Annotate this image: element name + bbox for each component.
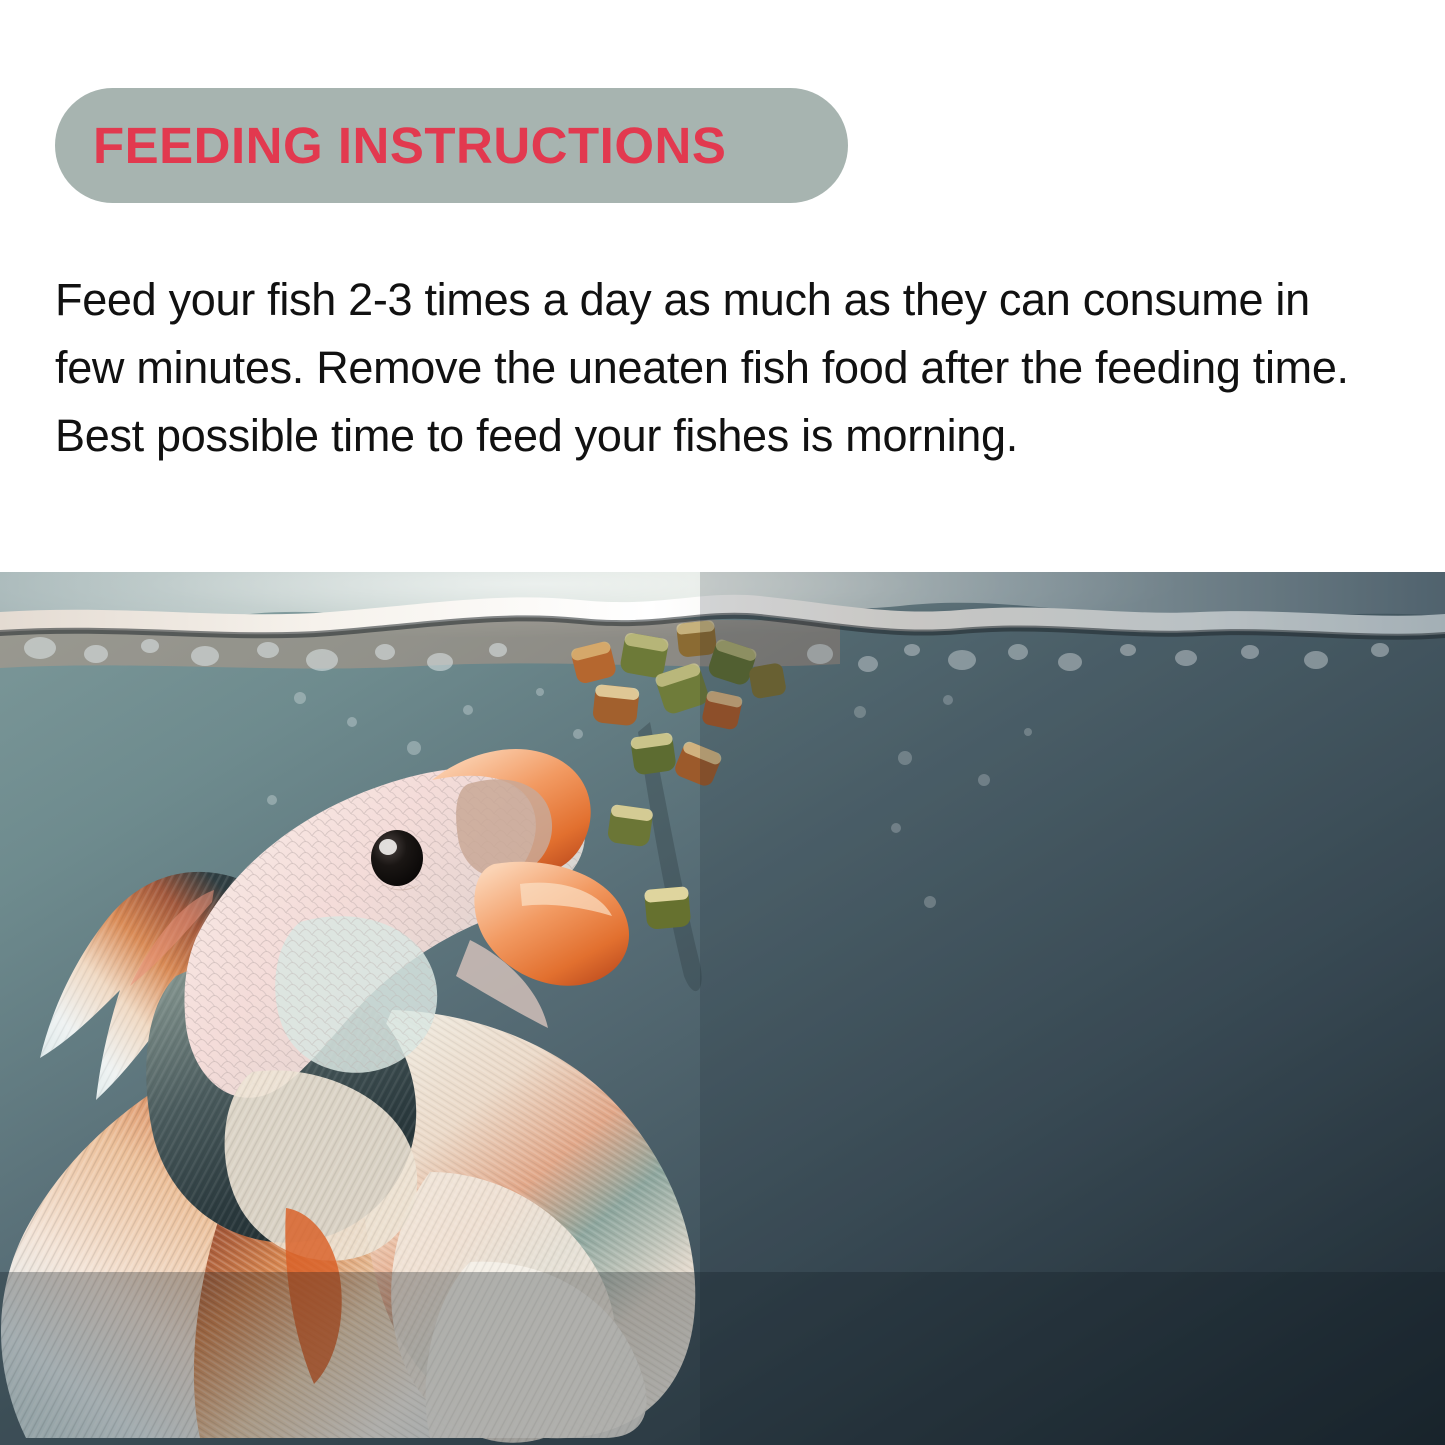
header-section: FEEDING INSTRUCTIONS Feed your fish 2-3 … (0, 0, 1445, 572)
feeding-instructions-text: Feed your fish 2-3 times a day as much a… (55, 266, 1390, 470)
product-info-card: FEEDING INSTRUCTIONS Feed your fish 2-3 … (0, 0, 1445, 1445)
fish-eye (371, 830, 423, 886)
fish-eye-highlight (379, 839, 397, 855)
page-title: FEEDING INSTRUCTIONS (93, 120, 726, 171)
bottom-vignette (0, 1272, 1445, 1445)
betta-fish-photo (0, 572, 1445, 1445)
underwater-scene-illustration (0, 572, 1445, 1445)
section-title-badge: FEEDING INSTRUCTIONS (55, 88, 848, 203)
